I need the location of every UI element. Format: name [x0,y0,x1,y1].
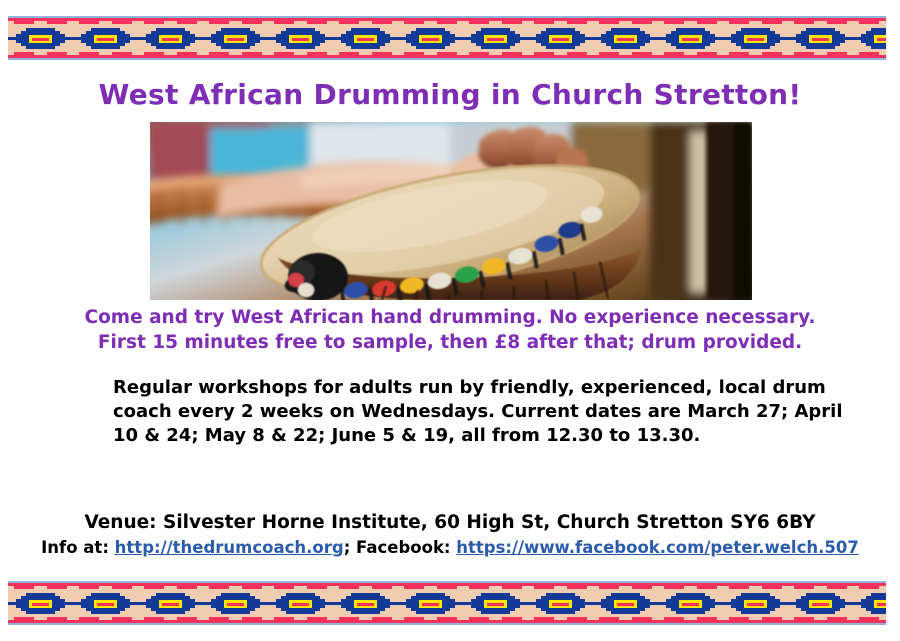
chevron-up-icon [528,583,593,592]
border-motif [853,583,886,623]
venue-text: Venue: Silvester Horne Institute, 60 Hig… [0,512,900,533]
diamond-core-red [877,603,886,606]
diamond-icon [666,28,715,49]
diamond-core-red [292,603,309,606]
diamond-icon [146,28,195,49]
chevron-up-icon [788,18,853,27]
chevron-up-icon [203,18,268,27]
border-motif [268,583,333,623]
diamond-core-red [357,38,374,41]
chevron-up-icon [853,18,886,27]
chevron-down-icon [593,614,658,623]
chevron-down-icon [853,49,886,58]
page-title: West African Drumming in Church Stretton… [0,78,900,111]
chevron-down-icon [593,49,658,58]
diamond-core-red [32,603,49,606]
border-motif [593,583,658,623]
diamond-icon [341,593,390,614]
chevron-down-icon [658,49,723,58]
border-pattern-row-bottom [8,583,886,623]
border-motif [138,18,203,58]
diamond-icon [16,28,65,49]
border-motif [8,18,73,58]
highlight-line-1: Come and try West African hand drumming.… [0,305,900,330]
diamond-icon [81,28,130,49]
diamond-icon [406,28,455,49]
link-separator: ; [344,538,356,557]
chevron-up-icon [463,18,528,27]
chevron-up-icon [528,18,593,27]
chevron-up-icon [268,583,333,592]
border-motif [723,583,788,623]
chevron-down-icon [203,614,268,623]
diamond-icon [276,593,325,614]
website-link[interactable]: http://thedrumcoach.org [115,538,344,557]
djembe-drum-photo [150,122,752,300]
chevron-up-icon [333,18,398,27]
chevron-up-icon [788,583,853,592]
diamond-core-red [97,603,114,606]
info-label: Info at: [41,538,115,557]
highlight-line-2: First 15 minutes free to sample, then £8… [0,330,900,355]
border-motif [73,18,138,58]
border-motif [853,18,886,58]
chevron-up-icon [73,18,138,27]
diamond-icon [16,593,65,614]
diamond-core-red [227,603,244,606]
chevron-up-icon [8,583,73,592]
diamond-icon [341,28,390,49]
bottom-decorative-border [8,581,886,625]
border-motif [268,18,333,58]
top-decorative-border [8,16,886,60]
chevron-up-icon [268,18,333,27]
border-motif [528,583,593,623]
border-pattern-row-top [8,18,886,58]
border-motif [398,18,463,58]
chevron-down-icon [788,614,853,623]
facebook-link[interactable]: https://www.facebook.com/peter.welch.507 [456,538,859,557]
diamond-icon [731,28,780,49]
chevron-down-icon [203,49,268,58]
diamond-core-red [487,38,504,41]
chevron-up-icon [8,18,73,27]
chevron-down-icon [398,614,463,623]
diamond-icon [601,28,650,49]
chevron-up-icon [658,583,723,592]
chevron-up-icon [333,583,398,592]
diamond-core-red [227,38,244,41]
chevron-down-icon [268,49,333,58]
diamond-icon [601,593,650,614]
diamond-core-red [162,38,179,41]
diamond-core-red [812,603,829,606]
chevron-down-icon [333,49,398,58]
diamond-core-red [422,603,439,606]
diamond-icon [666,593,715,614]
border-motif [528,18,593,58]
chevron-down-icon [268,614,333,623]
chevron-down-icon [138,49,203,58]
diamond-icon [861,28,886,49]
chevron-up-icon [203,583,268,592]
diamond-core-red [292,38,309,41]
chevron-down-icon [333,614,398,623]
chevron-down-icon [723,49,788,58]
border-motif [73,583,138,623]
border-motif [333,583,398,623]
border-motif [788,18,853,58]
chevron-down-icon [463,614,528,623]
highlight-text: Come and try West African hand drumming.… [0,305,900,355]
diamond-icon [471,593,520,614]
diamond-icon [796,28,845,49]
diamond-core-red [682,38,699,41]
diamond-core-red [812,38,829,41]
diamond-icon [536,593,585,614]
chevron-up-icon [138,583,203,592]
chevron-up-icon [723,583,788,592]
chevron-down-icon [658,614,723,623]
diamond-core-red [422,38,439,41]
chevron-up-icon [398,583,463,592]
chevron-up-icon [658,18,723,27]
border-motif [8,583,73,623]
chevron-down-icon [73,614,138,623]
border-motif [658,18,723,58]
diamond-core-red [552,603,569,606]
chevron-down-icon [138,614,203,623]
border-motif [333,18,398,58]
diamond-icon [81,593,130,614]
diamond-core-red [682,603,699,606]
diamond-core-red [487,603,504,606]
diamond-icon [731,593,780,614]
chevron-up-icon [73,583,138,592]
chevron-down-icon [723,614,788,623]
chevron-down-icon [8,614,73,623]
chevron-up-icon [723,18,788,27]
border-motif [723,18,788,58]
diamond-icon [796,593,845,614]
border-motif [203,583,268,623]
diamond-core-red [617,603,634,606]
contact-info: Info at: http://thedrumcoach.org; Facebo… [0,538,900,557]
border-motif [463,18,528,58]
diamond-icon [276,28,325,49]
diamond-core-red [32,38,49,41]
chevron-down-icon [788,49,853,58]
diamond-icon [536,28,585,49]
border-motif [138,583,203,623]
border-motif [463,583,528,623]
border-motif [593,18,658,58]
chevron-down-icon [528,614,593,623]
workshop-details-text: Regular workshops for adults run by frie… [113,376,853,448]
facebook-label: Facebook: [356,538,456,557]
diamond-icon [406,593,455,614]
diamond-core-red [747,603,764,606]
chevron-down-icon [73,49,138,58]
diamond-icon [861,593,886,614]
diamond-icon [211,593,260,614]
border-motif [398,583,463,623]
chevron-down-icon [398,49,463,58]
chevron-down-icon [853,614,886,623]
chevron-down-icon [463,49,528,58]
poster: West African Drumming in Church Stretton… [0,0,900,641]
drum-photo-illustration [150,122,752,300]
diamond-icon [471,28,520,49]
diamond-core-red [747,38,764,41]
diamond-core-red [357,603,374,606]
diamond-core-red [162,603,179,606]
chevron-up-icon [138,18,203,27]
border-motif [658,583,723,623]
diamond-core-red [877,38,886,41]
chevron-up-icon [398,18,463,27]
chevron-up-icon [463,583,528,592]
diamond-core-red [97,38,114,41]
chevron-up-icon [593,583,658,592]
border-motif [203,18,268,58]
chevron-up-icon [593,18,658,27]
chevron-up-icon [853,583,886,592]
diamond-icon [211,28,260,49]
chevron-down-icon [8,49,73,58]
chevron-down-icon [528,49,593,58]
diamond-core-red [552,38,569,41]
diamond-core-red [617,38,634,41]
diamond-icon [146,593,195,614]
border-motif [788,583,853,623]
